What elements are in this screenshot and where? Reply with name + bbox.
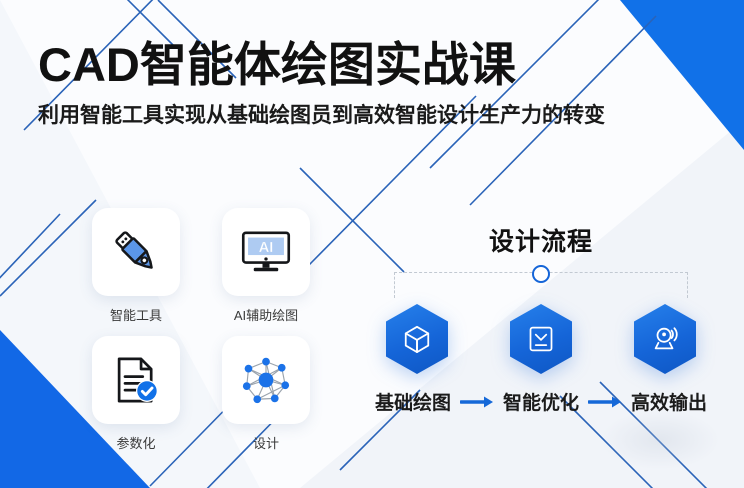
document-check-icon: [109, 353, 163, 407]
feature-card-tile: [222, 336, 310, 424]
flow-step-labels: 基础绘图 智能优化 高效输出: [358, 388, 724, 415]
course-banner: CAD智能体绘图实战课 利用智能工具实现从基础绘图员到高效智能设计生产力的转变: [0, 0, 744, 488]
feature-card-label: 参数化: [116, 433, 155, 452]
monitor-ai-icon: AI: [238, 224, 294, 280]
flow-step-smart-optimize[interactable]: [510, 304, 572, 374]
flow-arrow-icon: [460, 395, 494, 409]
feature-card-design[interactable]: 设计: [218, 336, 314, 452]
pen-icon: [109, 225, 163, 279]
feature-card-tile: AI: [222, 208, 310, 296]
feature-card-ai-drafting[interactable]: AI AI辅助绘图: [218, 208, 314, 324]
feature-card-grid: 智能工具 AI AI辅助绘图: [88, 208, 314, 452]
feature-card-label: AI辅助绘图: [234, 305, 298, 324]
flow-arrow-icon: [588, 395, 622, 409]
design-flow-section: 设计流程: [358, 222, 724, 415]
feature-card-tile: [92, 208, 180, 296]
flow-step-basic-drafting[interactable]: [386, 304, 448, 374]
feature-card-label: 设计: [253, 433, 279, 452]
page-subtitle: 利用智能工具实现从基础绘图员到高效智能设计生产力的转变: [38, 103, 708, 128]
feature-card-smart-tools[interactable]: 智能工具: [88, 208, 184, 324]
feature-card-label: 智能工具: [110, 305, 162, 324]
cube-box-icon: [402, 324, 432, 354]
flow-connector: [394, 272, 688, 298]
monitor-screen-text: AI: [259, 240, 274, 256]
flow-center-dot: [532, 265, 550, 283]
network-nodes-icon: [238, 352, 294, 408]
download-box-icon: [527, 325, 555, 353]
watermark-blur: [600, 410, 720, 470]
location-pin-icon: [650, 324, 680, 354]
banner-header: CAD智能体绘图实战课 利用智能工具实现从基础绘图员到高效智能设计生产力的转变: [38, 40, 708, 129]
feature-card-parametric[interactable]: 参数化: [88, 336, 184, 452]
flow-hexagon-row: [386, 304, 696, 374]
flow-step-efficient-output[interactable]: [634, 304, 696, 374]
flow-step-label: 智能优化: [503, 388, 579, 415]
flow-step-label: 高效输出: [631, 388, 707, 415]
flow-title: 设计流程: [358, 222, 724, 258]
page-title: CAD智能体绘图实战课: [38, 40, 708, 89]
feature-card-tile: [92, 336, 180, 424]
flow-step-label: 基础绘图: [375, 388, 451, 415]
